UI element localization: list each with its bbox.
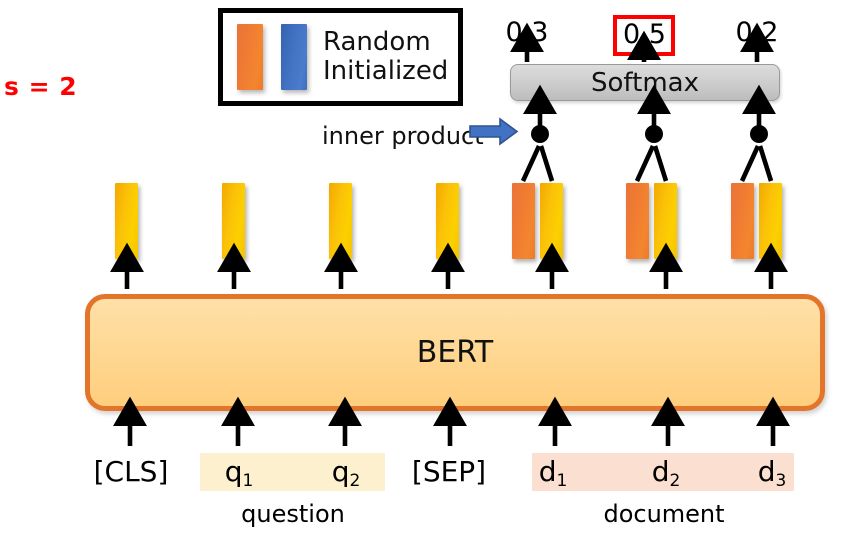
input-token-cls: [CLS] — [86, 455, 176, 488]
inner-product-connectors — [523, 146, 771, 181]
random-init-bar-d3 — [731, 183, 754, 259]
input-token-d1: d1 — [510, 455, 596, 488]
legend-blue-bar — [281, 24, 307, 90]
input-token-sep: [SEP] — [404, 455, 494, 488]
hidden-state-bar-d2 — [654, 183, 677, 259]
input-token-d1-base: d — [539, 455, 557, 488]
inner-product-nodes — [531, 125, 768, 143]
softmax-box: Softmax — [510, 64, 780, 101]
hidden-state-bar-sep — [436, 183, 459, 259]
legend-label: Random Initialized — [323, 28, 448, 86]
bert-encoder-box: BERT — [85, 294, 825, 411]
input-token-q1: q1 — [196, 455, 282, 488]
node-to-softmax-arrows — [540, 104, 759, 128]
random-init-bar-d1 — [512, 183, 535, 259]
input-token-d3: d3 — [729, 455, 815, 488]
question-segment-label: question — [202, 500, 384, 528]
input-to-bert-arrows — [130, 416, 773, 446]
input-token-q2-sub: 2 — [349, 471, 360, 491]
document-segment-label: document — [533, 500, 795, 528]
legend-label-line2: Initialized — [323, 57, 448, 86]
hidden-state-bar-q2 — [329, 183, 352, 259]
s-value-annotation: s = 2 — [4, 72, 77, 101]
input-token-d3-sub: 3 — [775, 471, 786, 491]
input-token-q2-base: q — [332, 455, 350, 488]
legend-box: Random Initialized — [218, 8, 463, 106]
input-token-d2-sub: 2 — [669, 471, 680, 491]
hidden-state-bar-q1 — [222, 183, 245, 259]
legend-label-line1: Random — [323, 28, 448, 57]
hidden-state-bar-d3 — [759, 183, 782, 259]
input-token-d2-base: d — [652, 455, 670, 488]
hidden-state-bar-d1 — [540, 183, 563, 259]
input-token-d2: d2 — [623, 455, 709, 488]
softmax-output-0: 0.3 — [497, 17, 557, 48]
input-token-d3-base: d — [758, 455, 776, 488]
input-token-cls-text: [CLS] — [94, 455, 169, 488]
hidden-state-bar-cls — [115, 183, 138, 259]
random-init-bar-d2 — [626, 183, 649, 259]
softmax-output-1-highlighted: 0.5 — [613, 15, 675, 56]
bert-to-hidden-arrows — [127, 262, 771, 289]
legend-orange-bar — [237, 24, 263, 90]
input-token-q1-sub: 1 — [242, 471, 253, 491]
input-token-q1-base: q — [225, 455, 243, 488]
softmax-output-2: 0.2 — [727, 17, 787, 48]
bert-label: BERT — [417, 335, 494, 370]
softmax-label: Softmax — [591, 68, 699, 98]
input-token-q2: q2 — [303, 455, 389, 488]
input-token-d1-sub: 1 — [556, 471, 567, 491]
input-token-sep-text: [SEP] — [412, 455, 486, 488]
inner-product-label: inner product — [322, 122, 484, 150]
